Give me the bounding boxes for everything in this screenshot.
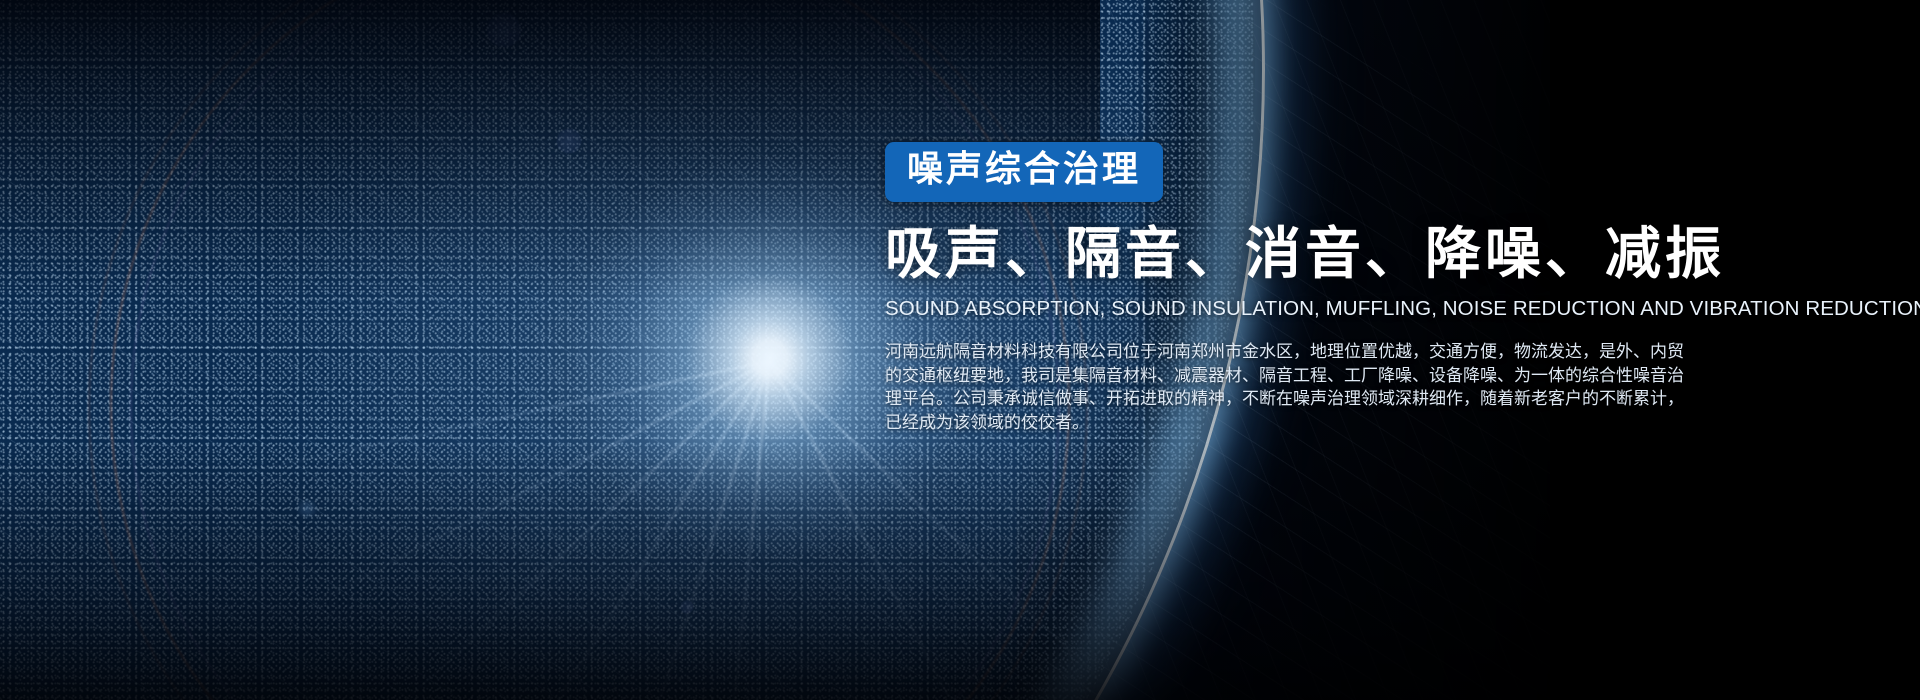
description-line: 河南远航隔音材料科技有限公司位于河南郑州市金水区，地理位置优越，交通方便，物流发… [885,341,1605,365]
description-line: 已经成为该领域的佼佼者。 [885,412,1605,436]
description-line: 的交通枢纽要地，我司是集隔音材料、减震器材、隔音工程、工厂降噪、设备降噪、为一体… [885,365,1605,389]
hero-text-block: 噪声综合治理 吸声、隔音、消音、降噪、减振 SOUND ABSORPTION, … [885,142,1885,435]
hero-headline: 吸声、隔音、消音、降噪、减振 [885,224,1885,287]
description-line: 理平台。公司秉承诚信做事、开拓进取的精神，不断在噪声治理领域深耕细作，随着新老客… [885,388,1605,412]
hero-subheadline-english: SOUND ABSORPTION, SOUND INSULATION, MUFF… [885,297,1885,321]
company-description: 河南远航隔音材料科技有限公司位于河南郑州市金水区，地理位置优越，交通方便，物流发… [885,341,1605,435]
category-badge: 噪声综合治理 [885,142,1163,202]
hero-banner: 噪声综合治理 吸声、隔音、消音、降噪、减振 SOUND ABSORPTION, … [0,0,1920,700]
